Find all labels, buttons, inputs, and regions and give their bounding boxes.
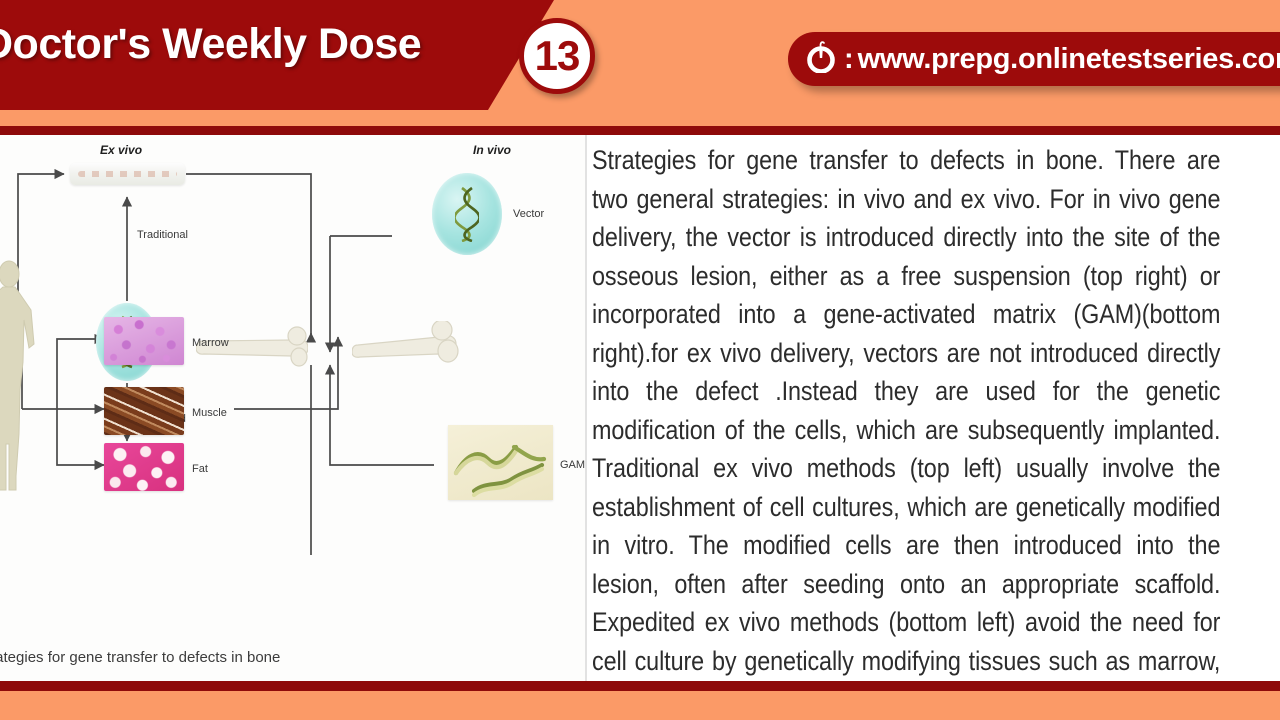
label-vector: Vector <box>513 208 544 220</box>
bone-icon <box>196 323 308 378</box>
dna-matrix-icon <box>448 425 553 500</box>
label-traditional: Traditional <box>137 229 188 241</box>
url-suffix: onlinetestseries.com <box>1018 43 1280 76</box>
muscle-tissue-image <box>104 387 184 435</box>
mouse-icon <box>806 41 836 78</box>
label-muscle: Muscle <box>192 407 227 419</box>
cell-culture-dish-icon <box>70 163 185 185</box>
bone-icon <box>352 321 467 380</box>
divider-bar-top <box>0 126 1280 135</box>
url-highlight: prepg. <box>931 43 1018 76</box>
vector-cell-icon <box>432 173 502 255</box>
label-ex-vivo: Ex vivo <box>100 143 142 157</box>
slide-page: Doctor's Weekly Dose 13 : www. prepg. on… <box>0 0 1280 720</box>
dna-helix-icon <box>455 186 479 242</box>
diagram-caption: Strategies for gene transfer to defects … <box>0 649 376 666</box>
issue-number-badge: 13 <box>519 18 595 94</box>
column-divider <box>585 135 587 681</box>
issue-number-label: 13 <box>524 23 590 89</box>
gene-transfer-diagram: Ex vivo In vivo Traditional Expedited <box>0 135 586 681</box>
article-body: Strategies for gene transfer to defects … <box>592 141 1220 681</box>
label-fat: Fat <box>192 463 208 475</box>
page-header: Doctor's Weekly Dose 13 : www. prepg. on… <box>0 0 1280 128</box>
human-silhouette-icon <box>0 258 40 493</box>
fat-tissue-image <box>104 443 184 491</box>
label-marrow: Marrow <box>192 337 229 349</box>
label-gam: GAM <box>560 459 585 471</box>
marrow-tissue-image <box>104 317 184 365</box>
url-separator: : <box>844 43 854 76</box>
url-prefix: www. <box>858 43 931 76</box>
page-title: Doctor's Weekly Dose <box>0 20 522 69</box>
content-area: Ex vivo In vivo Traditional Expedited <box>0 135 1280 681</box>
website-url-pill[interactable]: : www. prepg. onlinetestseries.com <box>788 32 1280 86</box>
label-in-vivo: In vivo <box>473 143 511 157</box>
article-text-column: Strategies for gene transfer to defects … <box>592 141 1280 681</box>
divider-bar-bottom <box>0 681 1280 691</box>
